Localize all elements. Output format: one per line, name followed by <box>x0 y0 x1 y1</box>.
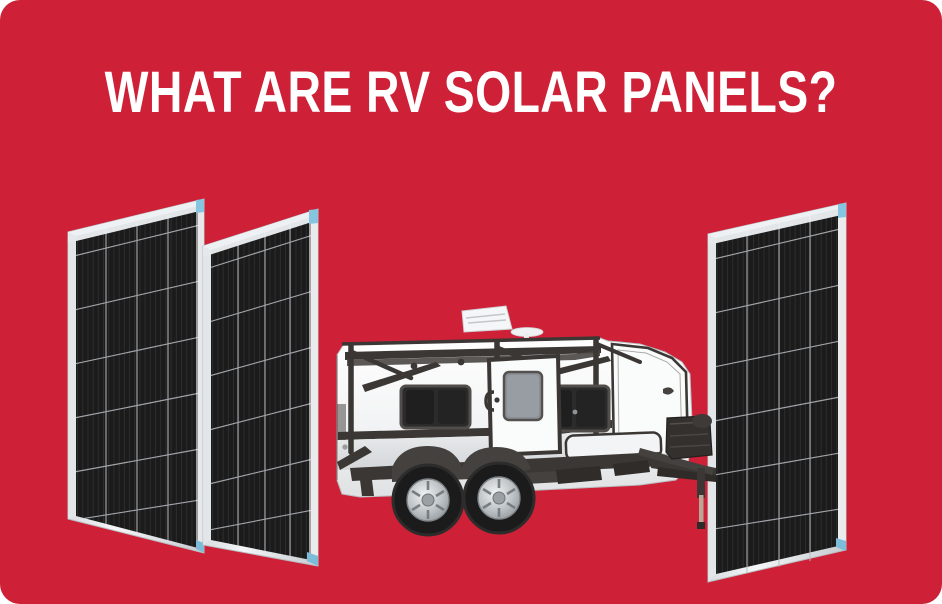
red-banner-background: WHAT ARE RV SOLAR PANELS? <box>0 0 942 604</box>
rv-travel-trailer <box>337 306 716 535</box>
solar-panel-left-front <box>203 209 318 566</box>
rv-wheel-rear <box>393 465 463 535</box>
page-title: WHAT ARE RV SOLAR PANELS? <box>94 62 848 124</box>
rv-propane-cover <box>666 414 712 459</box>
rv-wheel-front <box>464 463 534 533</box>
banner-stage: WHAT ARE RV SOLAR PANELS? <box>0 0 942 604</box>
rv-tongue-jack <box>697 468 705 529</box>
solar-panel-left-back <box>68 199 204 553</box>
rv-entry-door[interactable] <box>486 356 560 455</box>
solar-panel-right <box>708 203 846 582</box>
rv-roof-ac <box>462 306 512 332</box>
rv-rear-window <box>401 386 470 428</box>
